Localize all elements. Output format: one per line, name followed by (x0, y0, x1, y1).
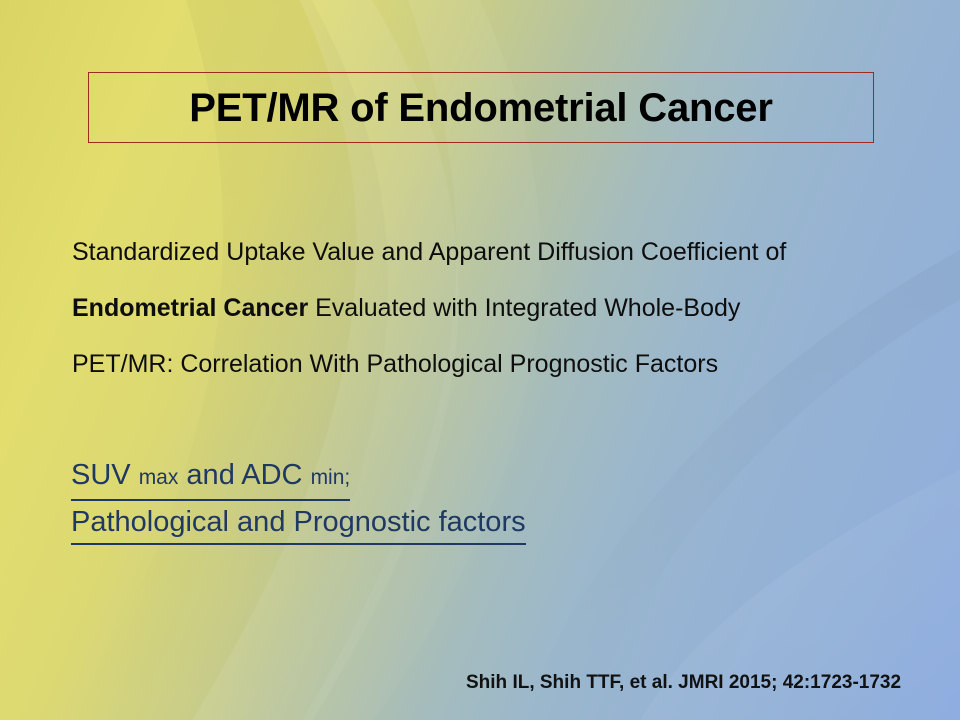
body-line-2-bold: Endometrial Cancer (72, 294, 308, 322)
page-title: PET/MR of Endometrial Cancer (189, 88, 772, 128)
body-line-2-rest: Evaluated with Integrated Whole-Body (308, 294, 740, 322)
presentation-slide: PET/MR of Endometrial Cancer Standardize… (0, 0, 960, 720)
highlight-row-1: SUV max and ADC min; (71, 455, 526, 502)
body-line-1: Standardized Uptake Value and Apparent D… (72, 224, 932, 280)
highlight-suv-label: SUV (71, 459, 139, 491)
highlight-adc-subscript: min; (311, 466, 351, 489)
highlight-row-2: Pathological and Prognostic factors (71, 502, 526, 549)
slide-body-text: Standardized Uptake Value and Apparent D… (72, 224, 932, 392)
body-line-2: Endometrial Cancer Evaluated with Integr… (72, 280, 932, 336)
highlight-adc-label: and ADC (178, 459, 310, 491)
highlight-line-2: Pathological and Prognostic factors (71, 502, 526, 545)
body-line-3: PET/MR: Correlation With Pathological Pr… (72, 336, 932, 392)
highlight-key-points: SUV max and ADC min; Pathological and Pr… (71, 455, 526, 549)
highlight-suv-subscript: max (139, 466, 179, 489)
slide-title-box: PET/MR of Endometrial Cancer (88, 72, 874, 143)
highlight-line-1: SUV max and ADC min; (71, 455, 350, 501)
citation-reference: Shih IL, Shih TTF, et al. JMRI 2015; 42:… (466, 672, 901, 694)
